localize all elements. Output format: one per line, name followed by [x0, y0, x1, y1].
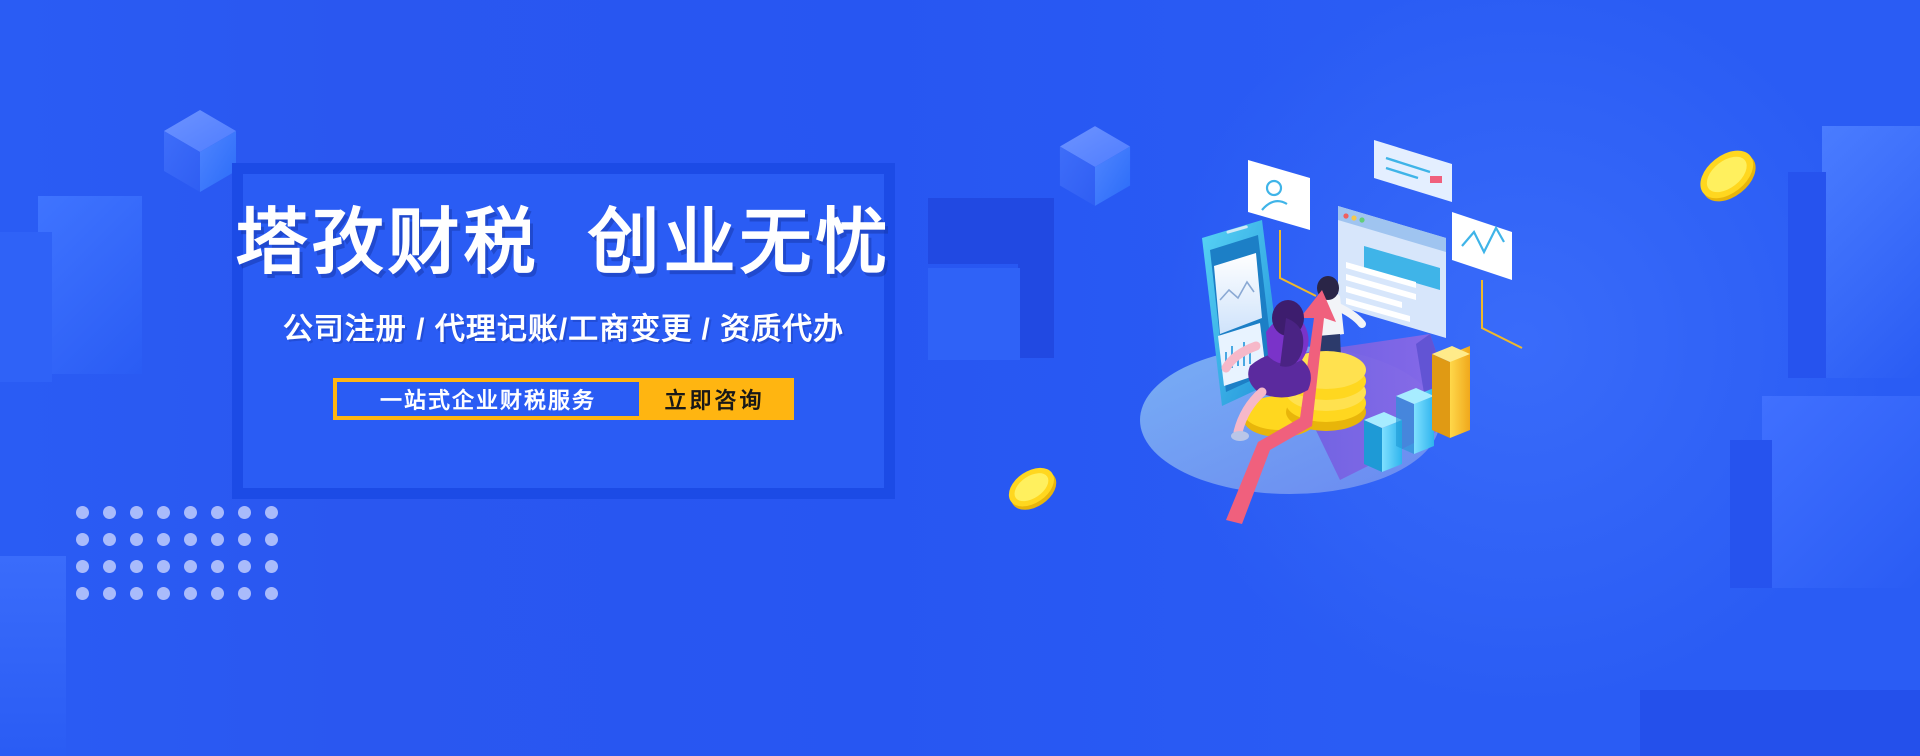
- slab-left-upper: [38, 196, 142, 374]
- banner-content: 塔孜财税 创业无忧 公司注册 / 代理记账/工商变更 / 资质代办 一站式企业财…: [243, 174, 884, 488]
- chat-bubble-card: [1374, 140, 1452, 202]
- cube-top-left-icon: [162, 108, 238, 194]
- page-title: 塔孜财税 创业无忧: [236, 206, 892, 282]
- isometric-business-illustration: [1130, 120, 1550, 540]
- dot-grid-decoration: [76, 506, 278, 600]
- slab-left-upper-shadow: [0, 232, 52, 382]
- bar-chart-gold: [1432, 346, 1470, 438]
- coin-top-right-icon: [1688, 138, 1768, 214]
- slab-right-tall-shadow: [1788, 172, 1826, 378]
- coin-lower-center-icon: [998, 456, 1066, 520]
- service-list-subtitle: 公司注册 / 代理记账/工商变更 / 资质代办: [283, 304, 844, 348]
- consult-now-button[interactable]: 立即咨询: [639, 382, 790, 416]
- slab-center-light: [928, 268, 1020, 360]
- cta-tagline: 一站式企业财税服务: [337, 382, 639, 416]
- cta-group[interactable]: 一站式企业财税服务 立即咨询: [333, 378, 794, 420]
- line-chart-card: [1452, 212, 1522, 348]
- slab-right-lower: [1762, 396, 1920, 588]
- slab-left-lower: [0, 556, 66, 756]
- slab-bottom-right: [1640, 690, 1920, 756]
- slab-center-dark-2: [1018, 238, 1054, 358]
- slab-right-tall: [1822, 126, 1920, 378]
- promo-banner: 塔孜财税 创业无忧 公司注册 / 代理记账/工商变更 / 资质代办 一站式企业财…: [0, 0, 1920, 756]
- cube-top-center-icon: [1058, 124, 1132, 208]
- slab-right-lower-shadow: [1730, 440, 1772, 588]
